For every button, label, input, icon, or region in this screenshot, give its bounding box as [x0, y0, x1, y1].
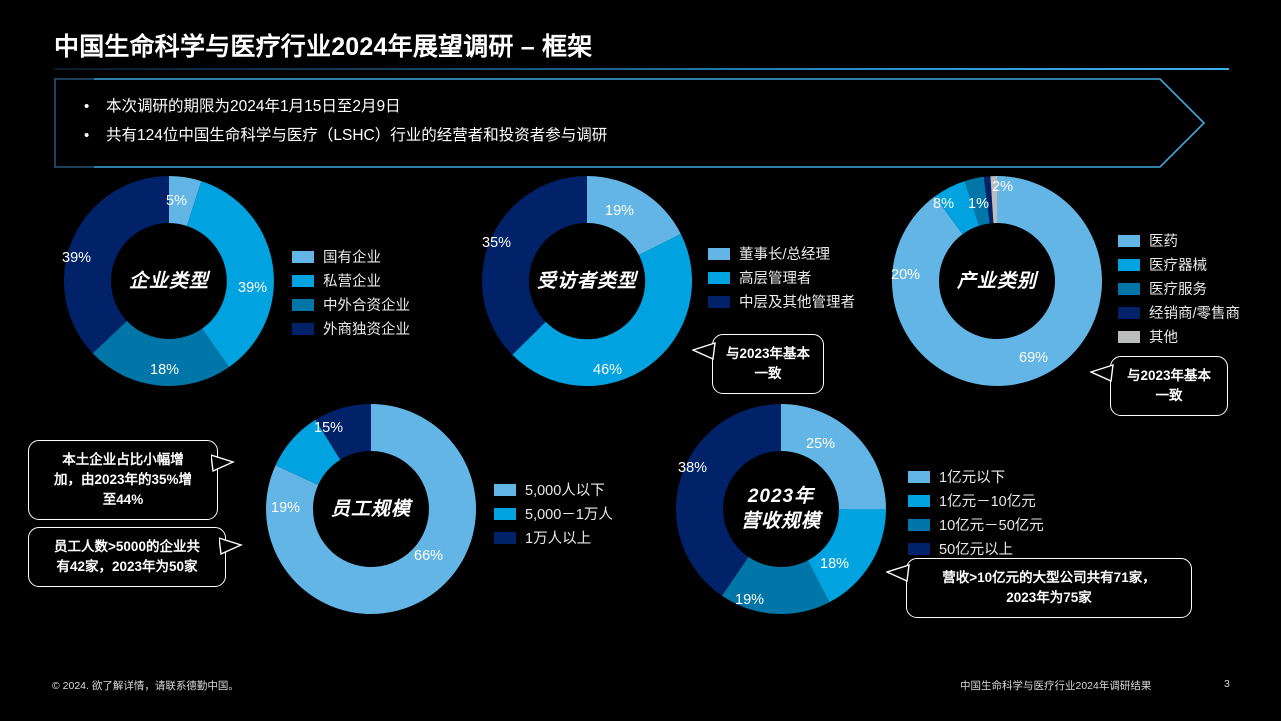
- legend-enterprise-type: 国有企业 私营企业 中外合资企业 外商独资企业: [292, 246, 410, 342]
- legend-swatch-icon: [494, 508, 516, 520]
- legend-swatch-icon: [908, 519, 930, 531]
- legend-item: 中外合资企业: [292, 294, 410, 315]
- legend-item: 外商独资企业: [292, 318, 410, 339]
- callout-line: 有42家，2023年为50家: [41, 557, 213, 577]
- slice-3: [64, 176, 169, 353]
- legend-label: 50亿元以上: [939, 538, 1013, 559]
- legend-label: 中层及其他管理者: [739, 291, 855, 312]
- donut-enterprise-type-svg: [60, 172, 278, 390]
- banner-bullet-item: • 本次调研的期限为2024年1月15日至2月9日: [80, 92, 1120, 121]
- callout-tail-icon: [692, 341, 720, 363]
- legend-label: 高层管理者: [739, 267, 812, 288]
- callout-box: 与2023年基本 一致: [712, 334, 824, 394]
- legend-industry-category: 医药 医疗器械 医疗服务 经销商/零售商 其他: [1118, 230, 1240, 350]
- legend-swatch-icon: [908, 543, 930, 555]
- legend-label: 医疗器械: [1149, 254, 1207, 275]
- legend-respondent-type: 董事长/总经理 高层管理者 中层及其他管理者: [708, 243, 855, 315]
- donut-respondent-type-svg: [478, 172, 696, 390]
- callout-box: 员工人数>5000的企业共 有42家，2023年为50家: [28, 527, 226, 587]
- legend-item: 其他: [1118, 326, 1240, 347]
- legend-item: 中层及其他管理者: [708, 291, 855, 312]
- legend-item: 医疗服务: [1118, 278, 1240, 299]
- legend-label: 董事长/总经理: [739, 243, 830, 264]
- legend-item: 50亿元以上: [908, 538, 1044, 559]
- legend-item: 1亿元以下: [908, 466, 1044, 487]
- legend-item: 高层管理者: [708, 267, 855, 288]
- donut-employee-scale-svg: [262, 400, 480, 618]
- callout-line: 加，由2023年的35%增: [41, 470, 205, 490]
- slice-1: [512, 234, 692, 386]
- callout-line: 与2023年基本: [1123, 366, 1215, 386]
- donut-chart-respondent-type: 受访者类型 19% 46% 35%: [478, 172, 696, 390]
- bullet-dot-icon: •: [80, 121, 106, 150]
- legend-item: 私营企业: [292, 270, 410, 291]
- legend-item: 医药: [1118, 230, 1240, 251]
- donut-chart-industry-category: 产业类别 69% 20% 8% 1% 2%: [888, 172, 1106, 390]
- footer-page-number: 3: [1224, 678, 1230, 690]
- legend-label: 其他: [1149, 326, 1178, 347]
- summary-banner: • 本次调研的期限为2024年1月15日至2月9日 • 共有124位中国生命科学…: [54, 78, 1229, 168]
- callout-employee-scale: 员工人数>5000的企业共 有42家，2023年为50家: [28, 527, 226, 587]
- legend-item: 国有企业: [292, 246, 410, 267]
- callout-revenue-scale: 营收>10亿元的大型公司共有71家， 2023年为75家: [906, 558, 1192, 618]
- banner-bullet-text: 共有124位中国生命科学与医疗（LSHC）行业的经营者和投资者参与调研: [106, 121, 1120, 150]
- legend-label: 5,000人以下: [525, 479, 605, 500]
- donut-industry-category-svg: [888, 172, 1106, 390]
- legend-swatch-icon: [908, 471, 930, 483]
- legend-label: 5,000－1万人: [525, 503, 613, 524]
- callout-line: 一致: [1123, 386, 1215, 406]
- footer-copyright: © 2024. 欲了解详情，请联系德勤中国。: [52, 678, 239, 693]
- legend-swatch-icon: [292, 299, 314, 311]
- callout-line: 2023年为75家: [919, 588, 1179, 608]
- callout-line: 营收>10亿元的大型公司共有71家，: [919, 568, 1179, 588]
- banner-bullet-list: • 本次调研的期限为2024年1月15日至2月9日 • 共有124位中国生命科学…: [80, 92, 1120, 150]
- legend-item: 1亿元－10亿元: [908, 490, 1044, 511]
- slice-2: [482, 176, 587, 355]
- legend-swatch-icon: [1118, 259, 1140, 271]
- legend-label: 外商独资企业: [323, 318, 410, 339]
- callout-respondent-type: 与2023年基本 一致: [712, 334, 824, 394]
- donut-chart-enterprise-type: 企业类型 5% 39% 18% 39%: [60, 172, 278, 390]
- legend-label: 国有企业: [323, 246, 381, 267]
- legend-swatch-icon: [708, 272, 730, 284]
- banner-bullet-item: • 共有124位中国生命科学与医疗（LSHC）行业的经营者和投资者参与调研: [80, 121, 1120, 150]
- callout-tail-icon: [211, 453, 239, 475]
- legend-label: 私营企业: [323, 270, 381, 291]
- legend-swatch-icon: [292, 275, 314, 287]
- legend-label: 1万人以上: [525, 527, 591, 548]
- title-underline: [54, 68, 1229, 70]
- callout-industry-category: 与2023年基本 一致: [1110, 356, 1228, 416]
- callout-tail-icon: [1090, 363, 1118, 385]
- legend-label: 医疗服务: [1149, 278, 1207, 299]
- legend-label: 医药: [1149, 230, 1178, 251]
- callout-box: 营收>10亿元的大型公司共有71家， 2023年为75家: [906, 558, 1192, 618]
- legend-swatch-icon: [494, 484, 516, 496]
- legend-item: 5,000人以下: [494, 479, 613, 500]
- legend-label: 经销商/零售商: [1149, 302, 1240, 323]
- legend-revenue-scale: 1亿元以下 1亿元－10亿元 10亿元－50亿元 50亿元以上: [908, 466, 1044, 562]
- callout-enterprise-type: 本土企业占比小幅增 加，由2023年的35%增 至44%: [28, 440, 218, 520]
- callout-tail-icon: [219, 536, 247, 558]
- legend-label: 中外合资企业: [323, 294, 410, 315]
- callout-line: 与2023年基本: [725, 344, 811, 364]
- slice-0: [781, 404, 886, 509]
- legend-swatch-icon: [708, 296, 730, 308]
- callout-tail-icon: [886, 563, 914, 585]
- donut-revenue-scale-svg: [672, 400, 890, 618]
- legend-swatch-icon: [708, 248, 730, 260]
- legend-item: 董事长/总经理: [708, 243, 855, 264]
- legend-label: 1亿元－10亿元: [939, 490, 1036, 511]
- callout-line: 一致: [725, 364, 811, 384]
- legend-item: 医疗器械: [1118, 254, 1240, 275]
- banner-bullet-text: 本次调研的期限为2024年1月15日至2月9日: [106, 92, 1120, 121]
- legend-swatch-icon: [908, 495, 930, 507]
- callout-line: 员工人数>5000的企业共: [41, 537, 213, 557]
- legend-swatch-icon: [1118, 235, 1140, 247]
- legend-label: 10亿元－50亿元: [939, 514, 1044, 535]
- legend-label: 1亿元以下: [939, 466, 1005, 487]
- legend-item: 10亿元－50亿元: [908, 514, 1044, 535]
- callout-box: 本土企业占比小幅增 加，由2023年的35%增 至44%: [28, 440, 218, 520]
- legend-swatch-icon: [1118, 283, 1140, 295]
- legend-swatch-icon: [292, 251, 314, 263]
- slide-root: 中国生命科学与医疗行业2024年展望调研 – 框架 • 本次调研的期限为2024…: [0, 0, 1281, 721]
- legend-swatch-icon: [1118, 331, 1140, 343]
- footer-document-title: 中国生命科学与医疗行业2024年调研结果: [960, 678, 1151, 693]
- page-title: 中国生命科学与医疗行业2024年展望调研 – 框架: [54, 27, 592, 63]
- bullet-dot-icon: •: [80, 92, 106, 121]
- donut-chart-employee-scale: 员工规模 66% 19% 15%: [262, 400, 480, 618]
- legend-swatch-icon: [1118, 307, 1140, 319]
- callout-line: 至44%: [41, 490, 205, 510]
- callout-box: 与2023年基本 一致: [1110, 356, 1228, 416]
- legend-swatch-icon: [292, 323, 314, 335]
- legend-item: 经销商/零售商: [1118, 302, 1240, 323]
- legend-swatch-icon: [494, 532, 516, 544]
- callout-line: 本土企业占比小幅增: [41, 450, 205, 470]
- donut-chart-revenue-scale: 2023年 营收规模 25% 18% 19% 38%: [672, 400, 890, 618]
- legend-item: 1万人以上: [494, 527, 613, 548]
- legend-employee-scale: 5,000人以下 5,000－1万人 1万人以上: [494, 479, 613, 551]
- legend-item: 5,000－1万人: [494, 503, 613, 524]
